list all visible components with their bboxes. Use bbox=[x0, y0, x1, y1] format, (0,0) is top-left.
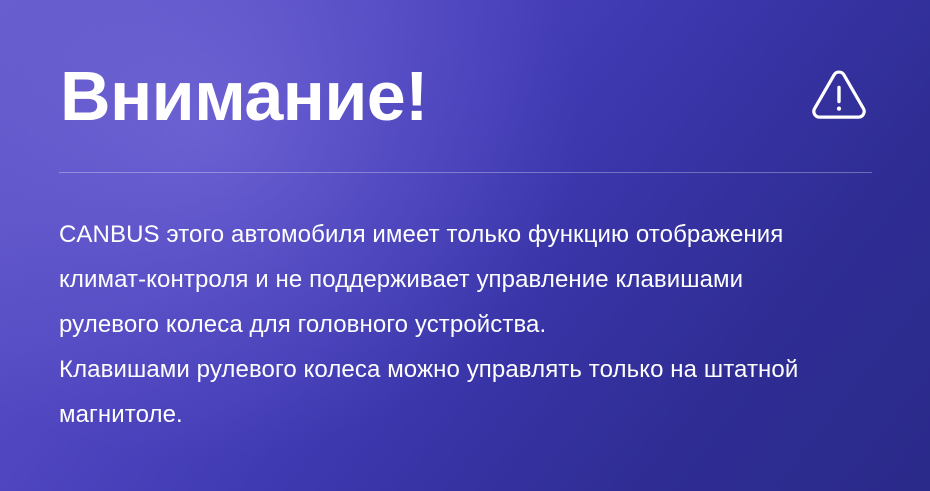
warning-message: CANBUS этого автомобиля имеет только фун… bbox=[59, 212, 890, 437]
message-line: рулевого колеса для головного устройства… bbox=[59, 302, 890, 347]
page-title: Внимание! bbox=[60, 57, 428, 135]
message-line: Клавишами рулевого колеса можно управлят… bbox=[59, 347, 890, 392]
banner-header: Внимание! bbox=[60, 52, 872, 140]
banner-content: Внимание! CANBUS этого автомобиля имеет … bbox=[0, 0, 930, 491]
header-divider bbox=[59, 172, 872, 173]
warning-icon-wrapper bbox=[810, 67, 872, 125]
warning-triangle-icon bbox=[810, 67, 868, 125]
message-line: климат-контроля и не поддерживает управл… bbox=[59, 257, 890, 302]
warning-banner: Внимание! CANBUS этого автомобиля имеет … bbox=[0, 0, 930, 491]
message-line: CANBUS этого автомобиля имеет только фун… bbox=[59, 212, 890, 257]
message-line: магнитоле. bbox=[59, 392, 890, 437]
